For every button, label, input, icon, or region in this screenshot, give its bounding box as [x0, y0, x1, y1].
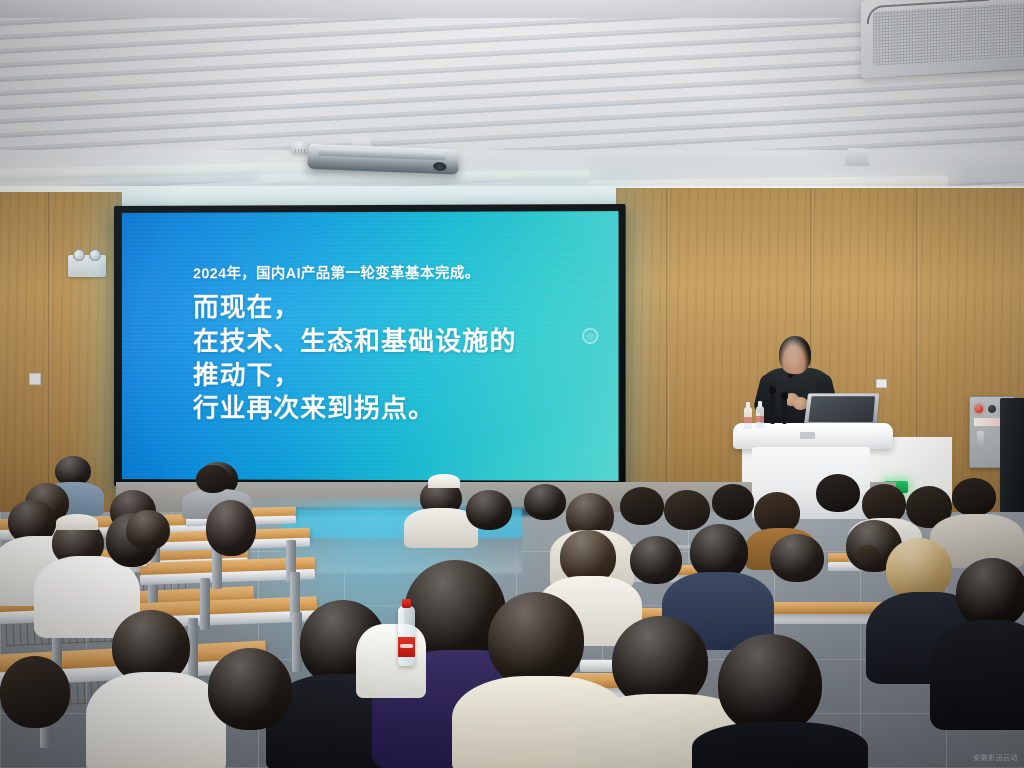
desk-leg	[200, 578, 210, 630]
water-bottle	[756, 406, 764, 428]
slide-line-2: 在技术、生态和基础设施的	[193, 325, 598, 359]
audience-head	[488, 592, 584, 688]
audience-head	[956, 558, 1024, 628]
air-conditioner-unit	[861, 0, 1024, 79]
podium-logo	[800, 432, 815, 439]
panel-button-black[interactable]	[988, 405, 996, 413]
ceiling-speaker-icon	[844, 148, 870, 166]
emergency-light-icon	[68, 255, 106, 277]
audience-head	[466, 490, 512, 530]
audience-head	[524, 484, 566, 520]
slide-line-1: 而现在，	[193, 291, 598, 325]
desk-microphone	[782, 398, 787, 424]
audience-head	[712, 484, 754, 520]
wall-plate	[29, 373, 41, 385]
audience-body	[692, 722, 868, 768]
panel-slot	[977, 431, 984, 447]
desk-microphone	[770, 392, 775, 424]
audience-head	[952, 478, 996, 516]
audience-head	[816, 474, 860, 512]
audience-head	[0, 656, 70, 728]
hair-bun	[856, 545, 880, 567]
slide-surface: 2024年，国内AI产品第一轮变革基本完成。 而现在， 在技术、生态和基础设施的…	[122, 211, 619, 481]
audience-body	[86, 672, 226, 768]
audience-head	[126, 510, 170, 550]
slide-heading: 2024年，国内AI产品第一轮变革基本完成。	[193, 261, 598, 283]
panel-button-red[interactable]	[975, 405, 983, 413]
audience-head	[196, 465, 230, 493]
audience-head-blonde	[886, 538, 952, 600]
slide-line-4: 行业再次来到拐点。	[193, 392, 598, 427]
audience-head	[718, 634, 822, 734]
audience-head	[770, 534, 824, 582]
audience-head	[208, 648, 292, 730]
audience-head	[206, 500, 256, 556]
projection-screen: 2024年，国内AI产品第一轮变革基本完成。 而现在， 在技术、生态和基础设施的…	[114, 204, 626, 488]
bottle-label	[398, 637, 415, 657]
bottle-cap	[402, 599, 411, 608]
coca-cola-bottle	[398, 606, 415, 666]
slide-corner-mark: ◎	[582, 328, 598, 344]
audience-head	[664, 490, 710, 530]
audience-shoulder	[356, 624, 426, 698]
podium-laptop[interactable]	[804, 393, 879, 425]
ceiling	[0, 0, 1024, 200]
lecture-hall-photo: 2024年，国内AI产品第一轮变革基本完成。 而现在， 在技术、生态和基础设施的…	[0, 0, 1024, 768]
hair-band	[428, 474, 460, 488]
slide-line-3: 推动下，	[193, 359, 598, 393]
hair-band	[56, 514, 98, 530]
audience-head	[630, 536, 682, 584]
audience-body	[930, 620, 1024, 730]
ceiling-light-tube	[0, 162, 312, 181]
photo-watermark: 安徽影迅云动	[973, 753, 1018, 763]
wall-plate	[876, 379, 887, 388]
presenter-head	[779, 336, 811, 374]
audience-head	[620, 487, 664, 525]
water-bottle	[744, 407, 752, 429]
slide-text-block: 2024年，国内AI产品第一轮变革基本完成。 而现在， 在技术、生态和基础设施的…	[193, 261, 598, 426]
